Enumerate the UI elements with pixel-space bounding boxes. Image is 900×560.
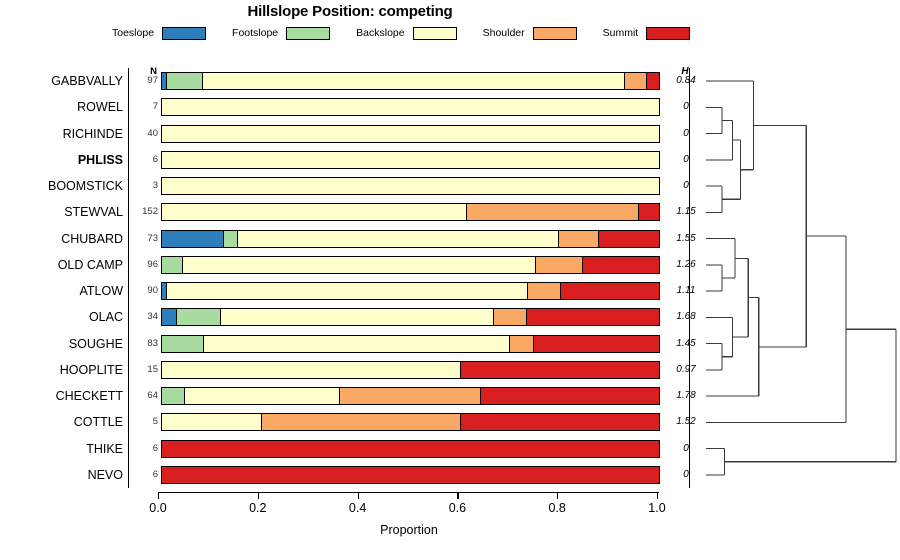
chart-row: 60 [129,436,691,462]
bar-segment-shoulder[interactable] [559,231,598,247]
stacked-bar[interactable] [161,125,660,143]
row-n-value: 6 [129,462,158,488]
bar-segment-summit[interactable] [534,336,660,352]
chart-row: 51.52 [129,409,691,435]
y-axis-label: RICHINDE [0,121,123,147]
chart-row: 150.97 [129,357,691,383]
chart-row: 60 [129,147,691,173]
row-n-value: 7 [129,94,158,120]
y-axis-label: ROWEL [0,94,123,120]
y-axis-label: COTTLE [0,409,123,435]
bar-segment-shoulder[interactable] [340,388,482,404]
x-axis-tick-label: 0.0 [138,501,178,515]
chart-page: Hillslope Position: competing ToeslopeFo… [0,0,900,560]
x-axis-line [158,492,659,493]
bar-segment-summit[interactable] [162,467,660,483]
bar-segment-footslope[interactable] [162,388,185,404]
bar-segment-shoulder[interactable] [536,257,583,273]
bar-segment-backslope[interactable] [162,414,262,430]
chart-row: 970.84 [129,68,691,94]
y-axis-label: ATLOW [0,278,123,304]
row-n-value: 96 [129,252,158,278]
bar-segment-backslope[interactable] [185,388,339,404]
legend-label: Shoulder [483,27,525,39]
x-axis-tick-label: 0.8 [537,501,577,515]
stacked-bar[interactable] [161,151,660,169]
row-n-value: 6 [129,436,158,462]
x-axis-tick-label: 0.4 [338,501,378,515]
row-n-value: 5 [129,409,158,435]
y-axis-label: OLAC [0,304,123,330]
bar-segment-backslope[interactable] [162,99,660,115]
x-axis-tick-label: 1.0 [637,501,677,515]
chart-row: 901.11 [129,278,691,304]
bar-segment-toeslope[interactable] [162,231,224,247]
bar-segment-summit[interactable] [461,362,660,378]
x-axis-tick [158,492,159,499]
bar-segment-footslope[interactable] [224,231,237,247]
chart-row: 60 [129,462,691,488]
row-n-value: 34 [129,304,158,330]
bar-segment-footslope[interactable] [162,336,204,352]
row-n-value: 3 [129,173,158,199]
y-axis-label: BOOMSTICK [0,173,123,199]
row-n-value: 90 [129,278,158,304]
bar-segment-footslope[interactable] [177,309,221,325]
bar-segment-backslope[interactable] [221,309,494,325]
legend-entry-summit[interactable]: Summit [603,27,691,40]
stacked-bar[interactable] [161,413,660,431]
legend-swatch-footslope [286,27,330,40]
legend: ToeslopeFootslopeBackslopeShoulderSummit [112,24,716,42]
chart-row: 341.68 [129,304,691,330]
y-axis-label: STEWVAL [0,199,123,225]
page-title: Hillslope Position: competing [0,3,700,20]
bar-segment-backslope[interactable] [167,283,527,299]
stacked-bar[interactable] [161,466,660,484]
bar-segment-shoulder[interactable] [625,73,647,89]
chart-row: 641.78 [129,383,691,409]
bar-segment-summit[interactable] [527,309,660,325]
y-axis-label: HOOPLITE [0,357,123,383]
stacked-bar[interactable] [161,282,660,300]
legend-entry-footslope[interactable]: Footslope [232,27,330,40]
x-axis-tick [358,492,359,499]
x-axis-tick-label: 0.6 [437,501,477,515]
chart-row: 400 [129,121,691,147]
legend-label: Backslope [356,27,404,39]
x-axis-tick [457,492,458,499]
y-axis-label: SOUGHE [0,331,123,357]
bar-segment-backslope[interactable] [162,204,467,220]
dendrogram [700,60,900,500]
stacked-bar[interactable] [161,230,660,248]
stacked-bar[interactable] [161,335,660,353]
bar-segment-footslope[interactable] [162,257,183,273]
row-n-value: 40 [129,121,158,147]
y-axis-label: CHUBARD [0,226,123,252]
chart-row: 961.26 [129,252,691,278]
bar-segment-summit[interactable] [481,388,660,404]
legend-swatch-toeslope [162,27,206,40]
bar-segment-backslope[interactable] [183,257,536,273]
bar-segment-shoulder[interactable] [510,336,534,352]
stacked-bar[interactable] [161,98,660,116]
stacked-bar[interactable] [161,203,660,221]
legend-swatch-summit [646,27,690,40]
bar-segment-summit[interactable] [561,283,660,299]
bar-segment-backslope[interactable] [203,73,625,89]
row-n-value: 64 [129,383,158,409]
bar-segment-toeslope[interactable] [162,309,177,325]
bar-segment-footslope[interactable] [167,73,203,89]
bar-segment-summit[interactable] [647,73,660,89]
dendrogram-links [706,81,896,475]
x-axis-title: Proportion [128,523,690,537]
x-axis-tick [557,492,558,499]
row-n-value: 152 [129,199,158,225]
x-axis: 0.00.20.40.60.81.0 [128,492,690,493]
y-axis-label: CHECKETT [0,383,123,409]
chart-row: 1521.15 [129,199,691,225]
bar-segment-shoulder[interactable] [528,283,561,299]
bar-segment-backslope[interactable] [162,178,660,194]
bar-segment-summit[interactable] [461,414,660,430]
stacked-bar[interactable] [161,387,660,405]
y-axis-label: GABBVALLY [0,68,123,94]
y-axis-label: OLD CAMP [0,252,123,278]
bar-segment-shoulder[interactable] [494,309,527,325]
legend-label: Footslope [232,27,278,39]
bar-segment-shoulder[interactable] [467,204,638,220]
chart-row: 731.55 [129,226,691,252]
x-axis-tick-label: 0.2 [238,501,278,515]
plot-panel: 970.847040060301521.15731.55961.26901.11… [128,68,690,488]
stacked-bar[interactable] [161,440,660,458]
bar-segment-shoulder[interactable] [262,414,462,430]
row-n-value: 15 [129,357,158,383]
bar-segment-backslope[interactable] [162,126,660,142]
y-axis-label: NEVO [0,462,123,488]
x-axis-tick [657,492,658,499]
legend-entry-toeslope[interactable]: Toeslope [112,27,206,40]
row-n-value: 97 [129,68,158,94]
bar-segment-summit[interactable] [162,441,660,457]
row-n-value: 6 [129,147,158,173]
chart-row: 831.45 [129,331,691,357]
x-axis-tick [258,492,259,499]
bar-segment-backslope[interactable] [204,336,510,352]
stacked-bar[interactable] [161,72,660,90]
legend-swatch-backslope [413,27,457,40]
stacked-bar[interactable] [161,177,660,195]
legend-swatch-shoulder [533,27,577,40]
y-axis-label: PHLISS [0,147,123,173]
dendrogram-svg [700,60,900,500]
row-n-value: 83 [129,331,158,357]
legend-entry-shoulder[interactable]: Shoulder [483,27,577,40]
bar-segment-summit[interactable] [599,231,660,247]
stacked-bar[interactable] [161,361,660,379]
legend-label: Toeslope [112,27,154,39]
bar-segment-backslope[interactable] [238,231,559,247]
y-axis-label: THIKE [0,436,123,462]
legend-label: Summit [603,27,639,39]
stacked-bar[interactable] [161,256,660,274]
bar-segment-backslope[interactable] [162,362,461,378]
legend-entry-backslope[interactable]: Backslope [356,27,456,40]
row-n-value: 73 [129,226,158,252]
chart-row: 70 [129,94,691,120]
bar-segment-summit[interactable] [639,204,660,220]
bar-segment-backslope[interactable] [162,152,660,168]
chart-row: 30 [129,173,691,199]
stacked-bar[interactable] [161,308,660,326]
bar-segment-summit[interactable] [583,257,660,273]
